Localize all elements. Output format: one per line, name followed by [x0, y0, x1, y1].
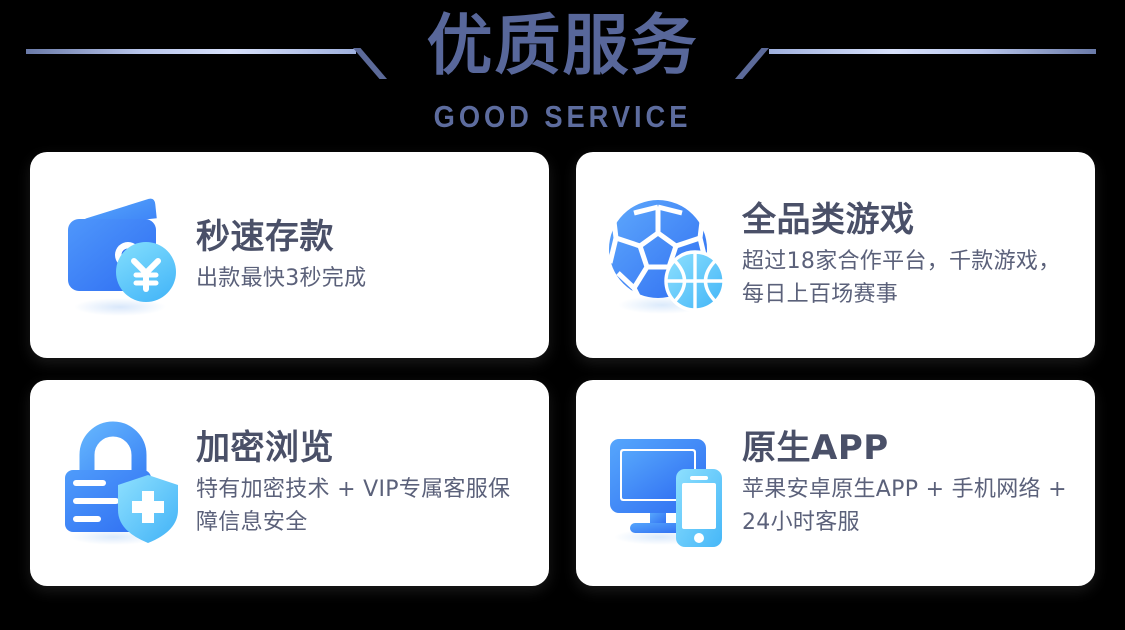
- feature-card-games[interactable]: 全品类游戏 超过18家合作平台，千款游戏，每日上百场赛事: [576, 152, 1095, 358]
- feature-card-deposit[interactable]: 秒速存款 出款最快3秒完成: [30, 152, 549, 358]
- card-text-block: 原生APP 苹果安卓原生APP + 手机网络 + 24小时客服: [742, 427, 1084, 539]
- card-text-block: 加密浏览 特有加密技术 + VIP专属客服保障信息安全: [196, 427, 538, 539]
- card-description: 苹果安卓原生APP + 手机网络 + 24小时客服: [742, 473, 1072, 539]
- card-description: 特有加密技术 + VIP专属客服保障信息安全: [196, 473, 526, 539]
- card-title: 加密浏览: [196, 427, 526, 469]
- card-title: 秒速存款: [196, 216, 366, 258]
- page-subtitle: GOOD SERVICE: [68, 99, 1058, 135]
- card-text-block: 全品类游戏 超过18家合作平台，千款游戏，每日上百场赛事: [742, 199, 1084, 311]
- wallet-coin-icon: [54, 189, 186, 321]
- feature-card-native-app[interactable]: 原生APP 苹果安卓原生APP + 手机网络 + 24小时客服: [576, 380, 1095, 586]
- card-title: 全品类游戏: [742, 199, 1072, 241]
- card-text-block: 秒速存款 出款最快3秒完成: [196, 216, 378, 295]
- banner-header: 优质服务 GOOD SERVICE: [0, 0, 1125, 150]
- feature-card-encryption[interactable]: 加密浏览 特有加密技术 + VIP专属客服保障信息安全: [30, 380, 549, 586]
- soccer-basketball-icon: [600, 189, 732, 321]
- lock-shield-icon: [54, 417, 186, 549]
- card-description: 出款最快3秒完成: [196, 262, 366, 295]
- card-description: 超过18家合作平台，千款游戏，每日上百场赛事: [742, 245, 1072, 311]
- card-title: 原生APP: [742, 427, 1072, 469]
- promo-banner: 优质服务 GOOD SERVICE: [0, 0, 1125, 630]
- monitor-phone-icon: [600, 417, 732, 549]
- feature-card-grid: 秒速存款 出款最快3秒完成: [30, 152, 1095, 600]
- page-title: 优质服务: [0, 6, 1125, 86]
